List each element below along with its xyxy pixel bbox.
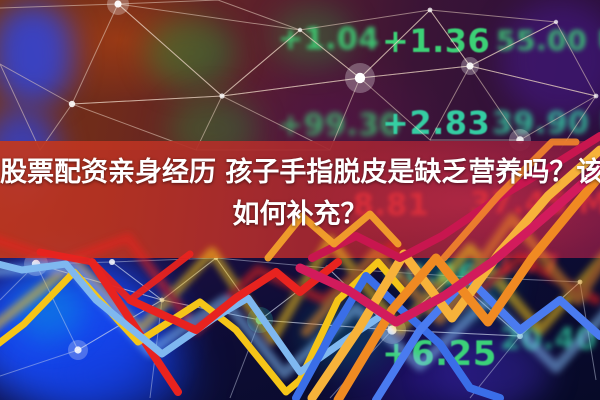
headline-text: 股票配资亲身经历 孩子手指脱皮是缺乏营养吗？该 如何补充？ (0, 152, 600, 236)
headline-line-1: 股票配资亲身经历 孩子手指脱皮是缺乏营养吗？该 (0, 152, 600, 194)
headline-line-2: 如何补充？ (0, 194, 600, 236)
banner-image: +1.04 +1.36 55.00 U +99.30 +2.83 39.90 U (0, 0, 600, 400)
